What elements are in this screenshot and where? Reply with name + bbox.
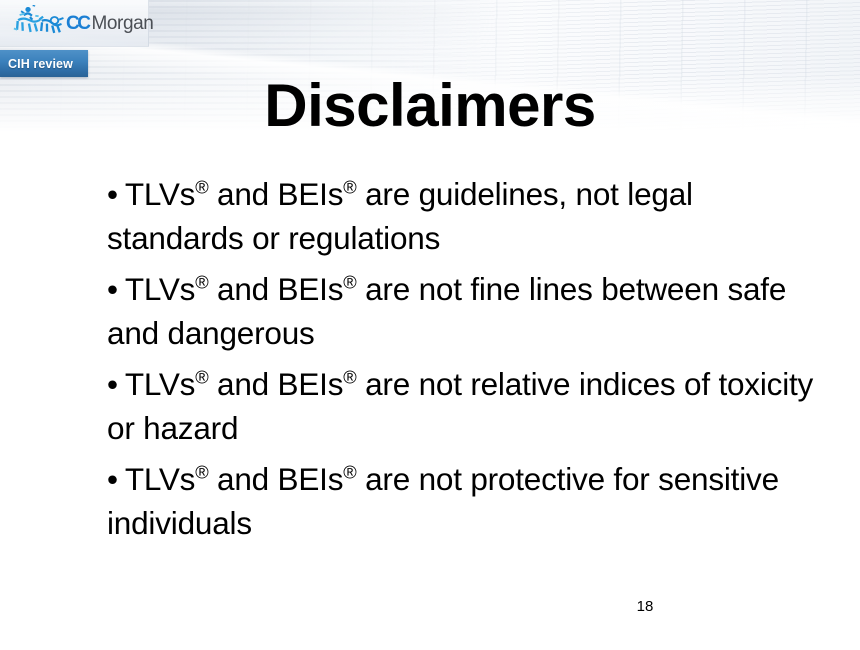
bullet-marker: • [107, 176, 118, 212]
bullet-marker: • [107, 366, 118, 402]
registered-trademark-icon: ® [343, 462, 356, 483]
list-item-text-prefix: TLVs [125, 461, 195, 497]
bullet-marker: • [107, 461, 118, 497]
cc-morgan-horseman-lion-emblem-icon [8, 3, 64, 43]
brand-logo: CCMorgan [0, 0, 149, 47]
registered-trademark-icon: ® [343, 367, 356, 388]
list-item: •TLVs® and BEIs® are not relative indice… [107, 362, 819, 450]
list-item: •TLVs® and BEIs® are not fine lines betw… [107, 267, 819, 355]
section-tab-label: CIH review [8, 57, 73, 71]
page-title: Disclaimers [0, 76, 860, 136]
registered-trademark-icon: ® [195, 272, 208, 293]
list-item-text-prefix: TLVs [125, 366, 195, 402]
registered-trademark-icon: ® [343, 177, 356, 198]
list-item-text-middle: and BEIs [208, 271, 343, 307]
brand-logo-morgan-text: Morgan [91, 13, 153, 34]
brand-logo-wordmark: CCMorgan [66, 14, 153, 33]
list-item: •TLVs® and BEIs® are guidelines, not leg… [107, 172, 819, 260]
brand-logo-cc-text: CC [66, 13, 88, 34]
slide-canvas: CCMorgan CIH review Disclaimers •TLVs® a… [0, 0, 860, 650]
page-number: 18 [625, 598, 665, 615]
registered-trademark-icon: ® [343, 272, 356, 293]
bullet-marker: • [107, 271, 118, 307]
list-item-text-middle: and BEIs [208, 366, 343, 402]
list-item-text-middle: and BEIs [208, 176, 343, 212]
list-item-text-prefix: TLVs [125, 176, 195, 212]
registered-trademark-icon: ® [195, 177, 208, 198]
list-item-text-middle: and BEIs [208, 461, 343, 497]
registered-trademark-icon: ® [195, 462, 208, 483]
list-item: •TLVs® and BEIs® are not protective for … [107, 457, 819, 545]
bullet-list: •TLVs® and BEIs® are guidelines, not leg… [107, 172, 819, 552]
list-item-text-prefix: TLVs [125, 271, 195, 307]
section-tab-cih-review[interactable]: CIH review [0, 50, 88, 77]
registered-trademark-icon: ® [195, 367, 208, 388]
